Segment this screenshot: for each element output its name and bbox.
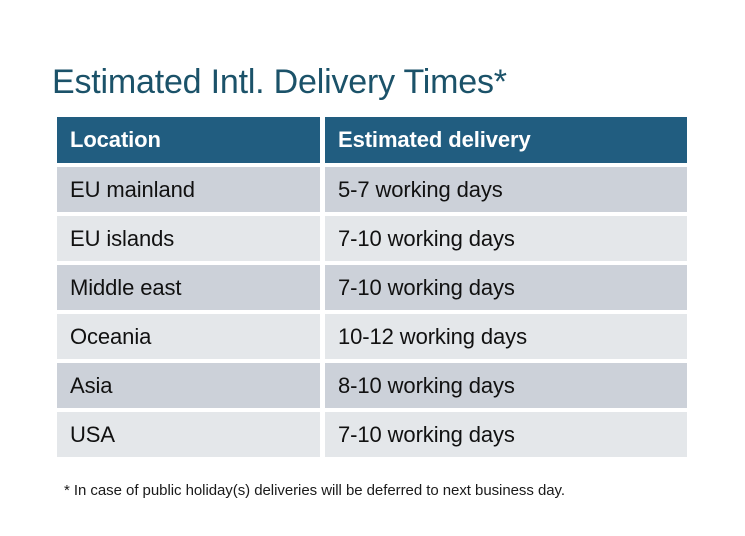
page-title: Estimated Intl. Delivery Times* xyxy=(52,61,507,103)
cell-delivery: 7-10 working days xyxy=(325,216,687,261)
cell-delivery: 10-12 working days xyxy=(325,314,687,359)
cell-location: Asia xyxy=(57,363,320,408)
cell-delivery: 7-10 working days xyxy=(325,412,687,457)
table-body: EU mainland 5-7 working days EU islands … xyxy=(57,167,687,457)
cell-location: Oceania xyxy=(57,314,320,359)
cell-delivery: 5-7 working days xyxy=(325,167,687,212)
column-header-delivery: Estimated delivery xyxy=(325,117,687,163)
table-row: Oceania 10-12 working days xyxy=(57,314,687,359)
column-header-location: Location xyxy=(57,117,320,163)
table-row: USA 7-10 working days xyxy=(57,412,687,457)
table-header-row: Location Estimated delivery xyxy=(57,117,687,163)
table-footnote: * In case of public holiday(s) deliverie… xyxy=(64,481,565,501)
cell-location: Middle east xyxy=(57,265,320,310)
table-row: Asia 8-10 working days xyxy=(57,363,687,408)
delivery-times-page: Estimated Intl. Delivery Times* Location… xyxy=(0,0,745,536)
cell-location: USA xyxy=(57,412,320,457)
cell-location: EU islands xyxy=(57,216,320,261)
delivery-times-table: Location Estimated delivery EU mainland … xyxy=(52,113,692,461)
table-row: EU islands 7-10 working days xyxy=(57,216,687,261)
table-row: EU mainland 5-7 working days xyxy=(57,167,687,212)
cell-delivery: 7-10 working days xyxy=(325,265,687,310)
cell-location: EU mainland xyxy=(57,167,320,212)
table-row: Middle east 7-10 working days xyxy=(57,265,687,310)
cell-delivery: 8-10 working days xyxy=(325,363,687,408)
table-header: Location Estimated delivery xyxy=(57,117,687,163)
